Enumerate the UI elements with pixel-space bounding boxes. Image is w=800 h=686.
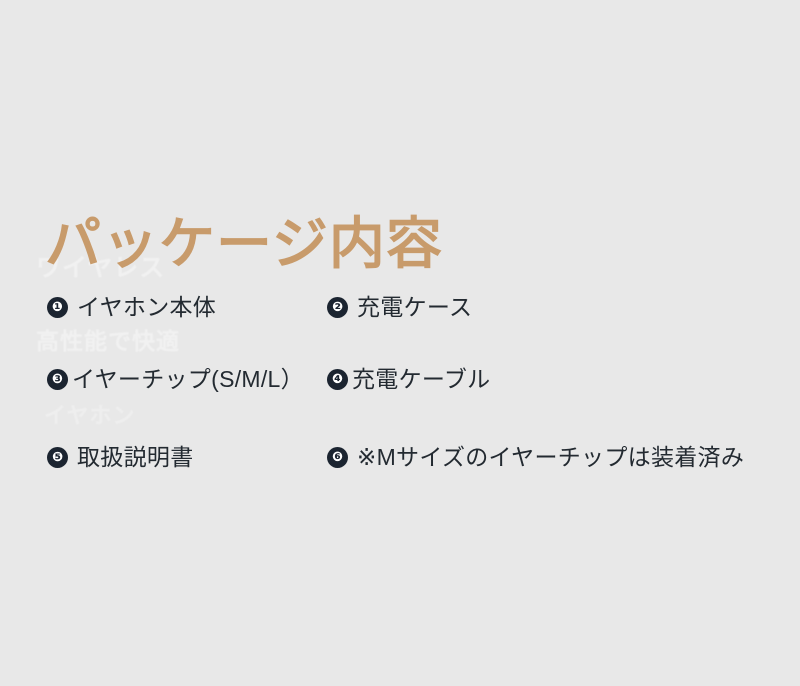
list-item-label: 充電ケース (357, 296, 472, 319)
package-contents-page: ワイヤレス 高性能で快適 イヤホン パッケージ内容 ❶ イヤホン本体 ❷ 充電ケ… (0, 0, 800, 686)
number-badge-1: ❶ (47, 297, 68, 318)
list-item: ❹ 充電ケーブル (327, 368, 490, 391)
list-item: ❶ イヤホン本体 (47, 296, 216, 319)
number-badge-5: ❺ (47, 447, 68, 468)
package-contents-list: ❶ イヤホン本体 ❷ 充電ケース ❸ イヤーチップ(S/M/L） ❹ 充電ケーブ… (0, 0, 800, 686)
number-badge-4: ❹ (327, 369, 348, 390)
list-item-label: 取扱説明書 (77, 446, 194, 469)
number-badge-6: ❻ (327, 447, 348, 468)
list-item-label: 充電ケーブル (352, 368, 490, 391)
number-badge-2: ❷ (327, 297, 348, 318)
list-item: ❸ イヤーチップ(S/M/L） (47, 368, 304, 391)
list-item-label: イヤホン本体 (77, 296, 216, 319)
list-item: ❻ ※Mサイズのイヤーチップは装着済み (327, 446, 744, 469)
list-item-label: ※Mサイズのイヤーチップは装着済み (357, 446, 744, 469)
list-item: ❷ 充電ケース (327, 296, 472, 319)
list-item-label: イヤーチップ(S/M/L） (72, 368, 304, 391)
number-badge-3: ❸ (47, 369, 68, 390)
list-item: ❺ 取扱説明書 (47, 446, 194, 469)
